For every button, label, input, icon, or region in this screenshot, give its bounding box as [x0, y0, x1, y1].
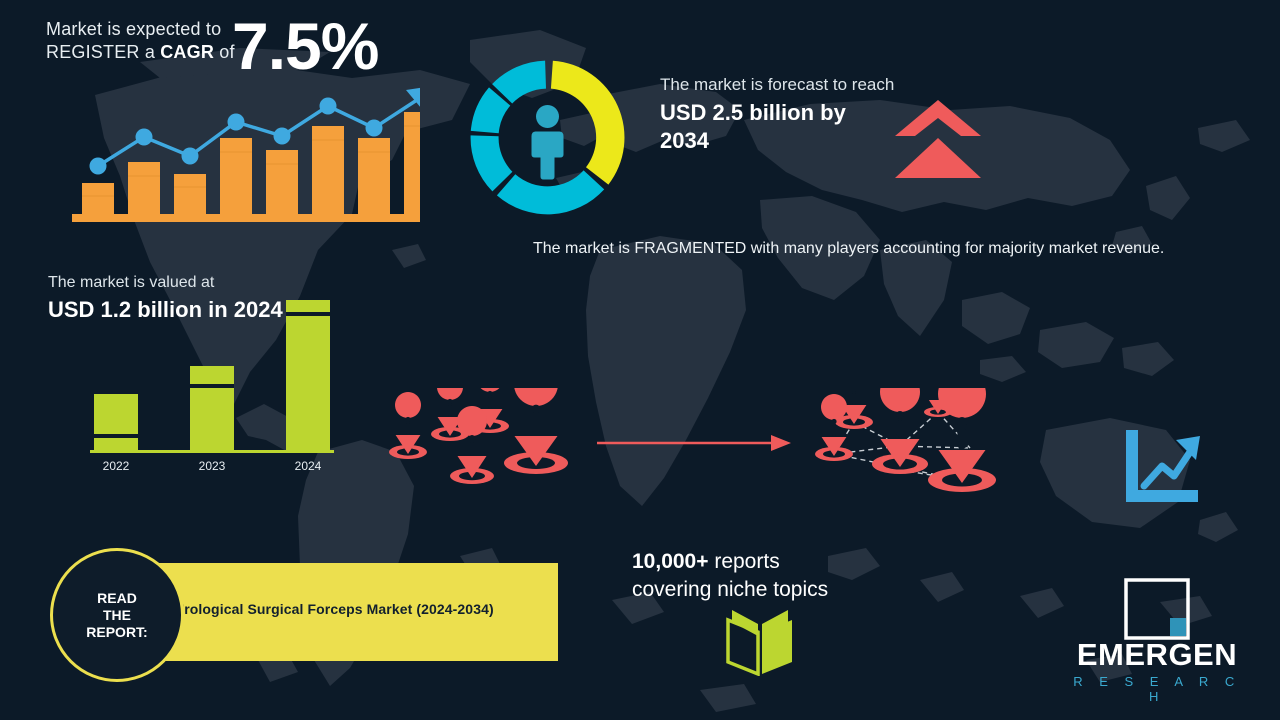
read-the-report-badge[interactable]: READTHEREPORT: [50, 548, 184, 682]
logo-wordmark: EMERGEN [1062, 638, 1252, 672]
bar-label-2022: 2022 [103, 459, 130, 473]
read-the-report-label: READTHEREPORT: [86, 590, 147, 641]
forecast-value: USD 2.5 billion by 2034 [660, 99, 900, 155]
reports-subtitle: covering niche topics [632, 576, 932, 604]
reports-count-block: 10,000+ reports covering niche topics [632, 548, 932, 604]
reports-count-value: 10,000+ [632, 550, 709, 573]
right-arrow-icon [595, 432, 795, 454]
logo-subtitle: R E S E A R C H [1062, 674, 1252, 704]
open-book-icon [714, 604, 806, 676]
bar-label-2024: 2024 [295, 459, 322, 473]
location-pin-cluster-icon [382, 388, 577, 493]
donut-person-icon [465, 55, 630, 220]
connected-location-pin-network-icon [810, 388, 1020, 498]
cagr-line-2-pre: REGISTER a [46, 42, 160, 62]
bar-label-2023: 2023 [199, 459, 226, 473]
report-title: Urological Surgical Forceps Market (2024… [174, 601, 494, 617]
reports-count-line: 10,000+ reports [632, 548, 932, 576]
square-chart-logo-icon [1124, 578, 1190, 640]
cagr-value: 7.5% [232, 13, 378, 79]
fragmented-text-block: The market is FRAGMENTED with many playe… [533, 237, 1223, 261]
blue-trend-chart-icon [1118, 428, 1204, 508]
forecast-label: The market is forecast to reach [660, 74, 900, 96]
cagr-keyword: CAGR [160, 42, 214, 62]
market-value-bar-chart: 2022 2023 2024 [80, 290, 340, 475]
infographic-canvas: Market is expected to REGISTER a CAGR of… [0, 0, 1280, 720]
reports-count-suffix: reports [709, 550, 780, 573]
fragmented-statement: The market is FRAGMENTED with many playe… [533, 237, 1223, 261]
double-chevron-up-icon [893, 98, 983, 180]
growth-chart-icon [60, 84, 420, 229]
emergen-research-logo: EMERGEN R E S E A R C H [1062, 578, 1252, 698]
forecast-text-block: The market is forecast to reach USD 2.5 … [660, 74, 900, 155]
